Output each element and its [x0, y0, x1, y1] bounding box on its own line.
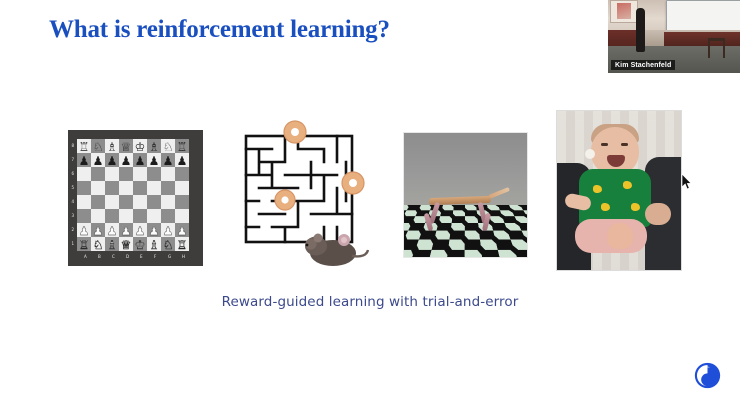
svg-text:♟: ♟ [135, 224, 146, 238]
baby-eye [621, 143, 628, 146]
baby-head [591, 127, 639, 175]
projector-screen [666, 0, 740, 32]
physics-simulation-image [404, 133, 527, 257]
svg-text:♟: ♟ [163, 224, 174, 238]
page-title: What is reinforcement learning? [49, 16, 390, 44]
svg-text:♟: ♟ [177, 224, 188, 238]
maze-reward-cheerio [342, 172, 364, 194]
side-display [610, 0, 638, 23]
chess-board-image: 87 65 43 21 AB CD EF GH [68, 130, 203, 266]
svg-text:♖: ♖ [79, 238, 90, 252]
svg-text:♟: ♟ [79, 224, 90, 238]
svg-text:♟: ♟ [121, 224, 132, 238]
svg-text:♖: ♖ [177, 238, 188, 252]
svg-text:H: H [182, 254, 185, 259]
svg-text:A: A [84, 254, 87, 259]
maze-reward-cheerio [275, 190, 295, 210]
svg-text:♔: ♔ [135, 140, 146, 154]
baby-cheek [585, 149, 595, 159]
svg-text:♗: ♗ [149, 238, 160, 252]
svg-text:♟: ♟ [163, 154, 174, 168]
speaker-name-label: Kim Stachenfeld [611, 60, 675, 70]
svg-text:D: D [126, 254, 129, 259]
baby-eye [601, 143, 608, 146]
svg-text:♟: ♟ [121, 154, 132, 168]
svg-text:♗: ♗ [107, 238, 118, 252]
svg-text:♘: ♘ [163, 238, 174, 252]
svg-text:♖: ♖ [177, 140, 188, 154]
svg-text:♘: ♘ [163, 140, 174, 154]
svg-text:♟: ♟ [93, 224, 104, 238]
svg-text:♟: ♟ [79, 154, 90, 168]
rat-maze-image [240, 116, 370, 268]
shirt-motif [623, 181, 632, 189]
svg-text:G: G [168, 254, 171, 259]
sim-floor [404, 205, 527, 257]
svg-text:♟: ♟ [177, 154, 188, 168]
chess-board-svg: 87 65 43 21 AB CD EF GH [68, 130, 203, 266]
svg-text:♕: ♕ [121, 140, 132, 154]
shirt-motif [631, 203, 640, 211]
svg-text:B: B [98, 254, 101, 259]
shirt-motif [593, 185, 602, 193]
svg-text:♟: ♟ [135, 154, 146, 168]
slide-caption: Reward-guided learning with trial-and-er… [0, 294, 740, 310]
svg-text:♟: ♟ [107, 154, 118, 168]
svg-text:♘: ♘ [93, 140, 104, 154]
shirt-motif [601, 203, 610, 211]
speaker-figure [636, 8, 645, 52]
svg-text:♘: ♘ [93, 238, 104, 252]
svg-text:♗: ♗ [107, 140, 118, 154]
svg-text:♟: ♟ [149, 224, 160, 238]
chair [708, 38, 725, 58]
wall-poster [617, 3, 631, 19]
svg-text:♟: ♟ [149, 154, 160, 168]
presentation-slide: What is reinforcement learning? Kim Stac… [0, 0, 740, 416]
adult-hand [645, 203, 671, 225]
mouse-cursor [681, 174, 692, 190]
svg-text:♔: ♔ [135, 238, 146, 252]
svg-text:C: C [112, 254, 115, 259]
maze-reward-cheerio [284, 121, 306, 143]
sim-sky [404, 133, 527, 205]
speaker-webcam-thumbnail[interactable]: Kim Stachenfeld [608, 0, 740, 73]
baby-foot [607, 223, 633, 249]
baby-photo-image [557, 111, 681, 270]
svg-text:♗: ♗ [149, 140, 160, 154]
svg-text:♖: ♖ [79, 140, 90, 154]
deepmind-spiral-logo [694, 362, 721, 389]
svg-text:♕: ♕ [121, 238, 132, 252]
svg-text:♟: ♟ [107, 224, 118, 238]
maze-svg [240, 116, 370, 268]
svg-text:♟: ♟ [93, 154, 104, 168]
